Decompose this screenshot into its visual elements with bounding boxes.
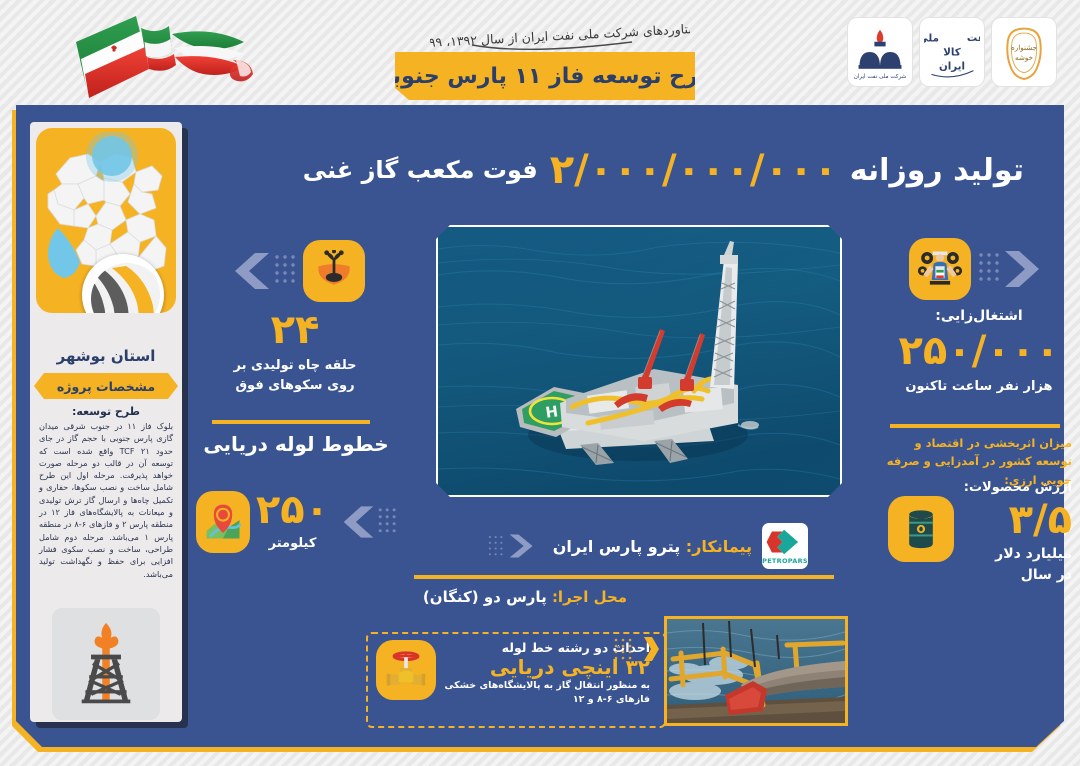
value-sublabel: ارزش محصولات: <box>964 478 1072 498</box>
petropars-logo-text: PETROPARS <box>762 557 808 565</box>
svg-text:ملی: ملی <box>924 33 939 45</box>
stat-wells: ۲۴ حلقه چاه تولیدی بر روی سکوهای فوق <box>200 240 390 395</box>
pipeline-line-3b: فازهای ۶-۸ و ۱۲ <box>440 693 650 707</box>
main-title-banner: طرح توسعه فاز ۱۱ پارس جنوبی <box>395 52 695 100</box>
svg-text:H: H <box>544 402 559 422</box>
nioc-logo: شرکت ملی نفت ایران <box>848 18 912 86</box>
jobs-title: اشتغال‌زایی: <box>890 306 1068 327</box>
chevron-left-icon <box>225 251 295 291</box>
workers-gears-icon <box>909 238 971 300</box>
svg-text:شرکت ملی نفت ایران: شرکت ملی نفت ایران <box>854 73 907 80</box>
svg-text:نفت: نفت <box>967 32 980 44</box>
headline-unit: فوت مکعب گاز غنی <box>303 156 538 184</box>
contractor-text: پیمانکار: پترو پارس ایران <box>553 537 752 556</box>
value-number: ۳/۵ <box>964 500 1072 540</box>
stat-product-value: ارزش محصولات: ۳/۵ میلیارد دلار در سال <box>876 478 1072 586</box>
headline: تولید روزانه ۲/۰۰۰/۰۰۰/۰۰۰ فوت مکعب گاز … <box>196 138 1024 202</box>
province-label: استان بوشهر <box>30 347 182 365</box>
iran-flag-ribbon-icon <box>28 8 278 108</box>
svg-text:ایران: ایران <box>939 61 965 73</box>
page-title: طرح توسعه فاز ۱۱ پارس جنوبی <box>371 64 720 89</box>
headline-number: ۲/۰۰۰/۰۰۰/۰۰۰ <box>550 147 838 193</box>
logo-group: جشنواره خوشه نفت ملی کالا ایران شرکت ملی… <box>848 18 1056 86</box>
location-value: پارس دو (کنگان) <box>423 588 547 606</box>
jobs-number: ۲۵۰/۰۰۰ <box>890 331 1068 371</box>
magnifier-icon <box>82 254 164 313</box>
header: دستاوردهای شرکت ملی نفت ایران از سال ۱۳۹… <box>0 0 1080 105</box>
chevron-left-dotted-icon <box>612 636 660 662</box>
petropars-logo-icon: PETROPARS <box>762 523 808 569</box>
wells-label: حلقه چاه تولیدی بر روی سکوهای فوق <box>200 356 390 395</box>
organization-date-line: دستاوردهای شرکت ملی نفت ایران از سال ۱۳۹… <box>430 14 690 56</box>
jobs-label: هزار نفر ساعت تاکنون <box>890 377 1068 397</box>
divider-left <box>212 420 370 424</box>
divider-contractor <box>414 575 834 579</box>
svg-text:کالا: کالا <box>943 47 960 59</box>
gate-valve-icon <box>383 647 429 693</box>
pipeline-length-number: ۲۵۰ <box>256 490 329 530</box>
chevron-right-icon <box>979 249 1049 289</box>
spec-text: بلوک فاز ۱۱ در جنوب شرقی میدان گازی پارس… <box>39 420 173 580</box>
contractor-row: PETROPARS پیمانکار: پترو پارس ایران <box>488 520 808 572</box>
pipeline-chevron-wrap <box>612 636 660 666</box>
divider-right <box>890 424 1060 428</box>
map-pin-icon <box>196 491 250 553</box>
value-unit-1: میلیارد دلار <box>964 544 1072 565</box>
location-key: محل اجرا: <box>552 588 627 606</box>
svg-text:جشنواره: جشنواره <box>1011 43 1037 52</box>
oil-derrick-card <box>52 608 160 720</box>
value-unit-2: در سال <box>964 565 1072 586</box>
stat-jobs: اشتغال‌زایی: ۲۵۰/۰۰۰ هزار نفر ساعت تاکنو… <box>890 238 1068 397</box>
contractor-value: پترو پارس ایران <box>553 537 680 556</box>
contractor-key: پیمانکار: <box>686 537 752 556</box>
stat-pipeline-length: ۲۵۰ کیلومتر <box>196 490 396 554</box>
project-spec-ribbon-label: مشخصات پروژه <box>57 379 155 394</box>
pipeline-length-unit: کیلومتر <box>256 534 329 554</box>
project-spec-body: طرح توسعه: بلوک فاز ۱۱ در جنوب شرقی میدا… <box>30 399 182 580</box>
oil-barrel-icon <box>888 496 954 562</box>
project-sidebar: استان بوشهر مشخصات پروژه طرح توسعه: بلوک… <box>30 122 182 722</box>
pipeline-section-title: خطوط لوله دریایی <box>196 432 396 456</box>
iran-map-card <box>36 128 176 313</box>
organization-date-text: دستاوردهای شرکت ملی نفت ایران از سال ۱۳۹… <box>430 20 690 51</box>
project-spec-ribbon: مشخصات پروژه <box>34 373 178 399</box>
offshore-rig-photo: H <box>436 225 842 497</box>
chevron-left-icon <box>335 502 396 542</box>
oil-well-icon <box>303 240 365 302</box>
spec-title: طرح توسعه: <box>39 405 173 418</box>
jashnvare-logo: جشنواره خوشه <box>992 18 1056 86</box>
svg-text:خوشه: خوشه <box>1015 53 1033 62</box>
chevron-right-dotted-icon <box>488 525 543 567</box>
oil-derrick-flame-icon <box>63 619 149 709</box>
wells-number: ۲۴ <box>200 310 390 350</box>
location-row: محل اجرا: پارس دو (کنگان) <box>390 588 660 606</box>
headline-label: تولید روزانه <box>850 153 1024 188</box>
kala-nafti-iran-logo: نفت ملی کالا ایران <box>920 18 984 86</box>
gate-valve-tile <box>376 640 436 700</box>
pipe-laying-photo <box>664 616 848 726</box>
pipeline-line-3a: به منظور انتقال گاز به پالایشگاه‌های خشک… <box>440 679 650 693</box>
